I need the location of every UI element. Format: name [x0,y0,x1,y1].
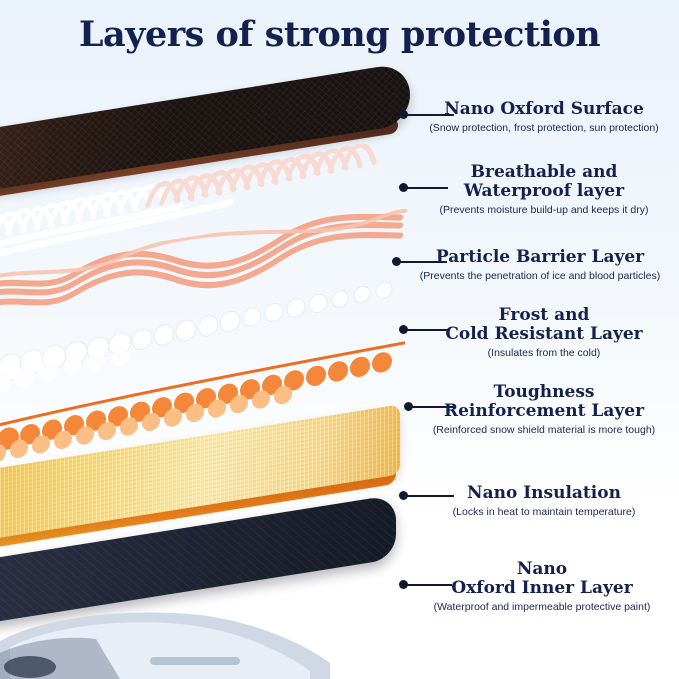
label-description-nano-oxford-inner: (Waterproof and impermeable protective p… [408,601,676,614]
label-nano-oxford-inner: Nano Oxford Inner Layer (Waterproof and … [408,560,676,614]
label-title-toughness-reinforcement: Toughness Reinforcement Layer [412,383,676,421]
label-title-breathable-waterproof: Breathable and Waterproof layer [412,163,676,201]
label-title-nano-insulation: Nano Insulation [412,484,676,503]
infographic-page: Layers of strong protection [0,0,679,679]
label-toughness-reinforcement: Toughness Reinforcement Layer (Reinforce… [412,383,676,437]
label-title-nano-oxford-surface: Nano Oxford Surface [412,100,676,119]
label-description-nano-oxford-surface: (Snow protection, frost protection, sun … [412,122,676,135]
label-breathable-waterproof: Breathable and Waterproof layer (Prevent… [412,163,676,217]
label-description-particle-barrier: (Prevents the penetration of ice and blo… [404,270,676,283]
label-title-particle-barrier: Particle Barrier Layer [404,248,676,267]
label-description-toughness-reinforcement: (Reinforced snow shield material is more… [412,424,676,437]
label-title-frost-cold-resistant: Frost and Cold Resistant Layer [412,306,676,344]
label-description-nano-insulation: (Locks in heat to maintain temperature) [412,506,676,519]
label-particle-barrier: Particle Barrier Layer (Prevents the pen… [404,248,676,283]
layer-stack-illustration [0,0,440,679]
label-nano-insulation: Nano Insulation (Locks in heat to mainta… [412,484,676,519]
label-frost-cold-resistant: Frost and Cold Resistant Layer (Insulate… [412,306,676,360]
car-illustration [0,601,330,679]
label-description-breathable-waterproof: (Prevents moisture build-up and keeps it… [412,204,676,217]
label-description-frost-cold-resistant: (Insulates from the cold) [412,347,676,360]
label-nano-oxford-surface: Nano Oxford Surface (Snow protection, fr… [412,100,676,135]
label-title-nano-oxford-inner: Nano Oxford Inner Layer [408,560,676,598]
